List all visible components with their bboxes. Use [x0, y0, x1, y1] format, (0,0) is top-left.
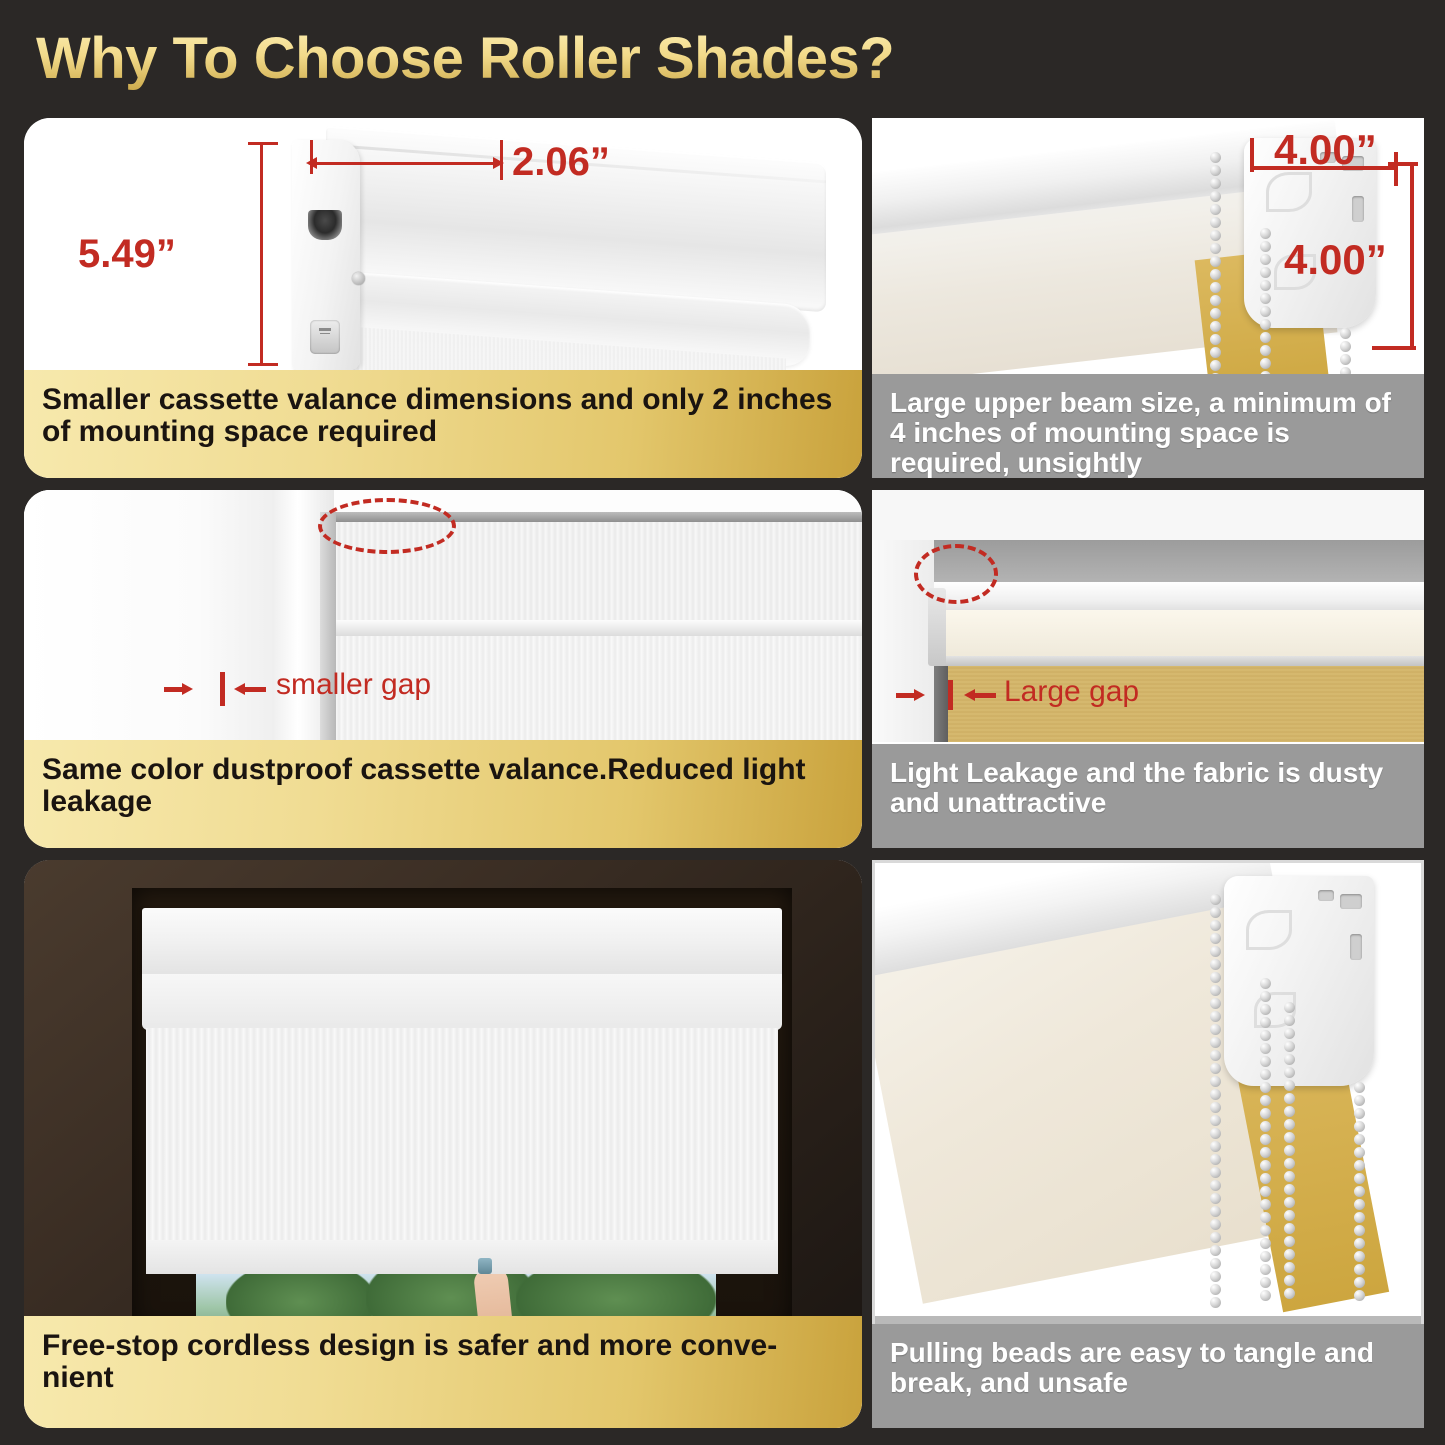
leak-top-wall [872, 490, 1424, 540]
panel-bad-3: Pulling beads are easy to tangle and bre… [872, 860, 1424, 1428]
bead-bracket-glyph-upper [1246, 910, 1292, 950]
light-leak-closeup: Large gap [872, 490, 1424, 742]
valance-slot [308, 210, 342, 240]
caption-good-1: Smaller cassette valance dimensions and … [24, 370, 862, 478]
gap-arrow-right-stem-bad [974, 693, 996, 698]
bead-mounting-bracket [1224, 876, 1374, 1086]
bracket-glyph-upper [1266, 172, 1312, 212]
cassette-valance-illustration: 2.06” 5.49” [274, 136, 834, 386]
dim-height-tick-bottom-bad [1372, 346, 1416, 350]
bead-chain-3 [1284, 1002, 1295, 1318]
caption-bad-3: Pulling beads are easy to tangle and bre… [872, 1324, 1424, 1428]
cassette-valance-front [142, 974, 782, 1030]
shade-mid-rail [324, 620, 862, 636]
bead-chain-back [1260, 228, 1271, 378]
shade-hem-bar [146, 1240, 778, 1274]
bead-chain-1 [1210, 894, 1221, 1314]
panel-bad-1: 4.00” 4.00” Large upper beam size, a min… [872, 118, 1424, 478]
caption-good-2: Same color dustproof cassette valance.Re… [24, 740, 862, 848]
dim-width-label-bad: 4.00” [1274, 126, 1377, 174]
dim-width-line [312, 162, 502, 165]
infographic-page: Why To Choose Roller Shades? [0, 0, 1445, 1445]
leak-valance [930, 610, 1424, 658]
window-wall [24, 490, 274, 748]
panel-bad-2: Large gap Light Leakage and the fabric i… [872, 490, 1424, 848]
dim-height-tick-top [248, 142, 278, 145]
valance-screw-upper [352, 272, 365, 285]
bead-chain-2 [1260, 978, 1271, 1318]
roller-shade-illustration: 4.00” 4.00” [872, 118, 1424, 374]
comparison-grid: 2.06” 5.49” Smaller cassette valance dim… [0, 108, 1445, 1438]
window-jamb-edge [320, 512, 336, 748]
gap-label-good: smaller gap [276, 668, 431, 702]
bead-chain-front [1210, 152, 1221, 378]
highlight-ellipse-bad [914, 544, 998, 604]
dim-width-tick-left-bad [1250, 138, 1254, 172]
bead-chain-loop [1340, 328, 1351, 378]
bead-shade-illustration [872, 860, 1424, 1330]
gap-arrow-left-stem-bad [896, 693, 918, 698]
bead-bracket-notch-3 [1318, 890, 1334, 901]
panel-good-1: 2.06” 5.49” Smaller cassette valance dim… [24, 118, 862, 478]
gap-arrow-right-stem-good [244, 687, 266, 692]
dim-height-line-bad [1410, 162, 1414, 348]
dim-width-tick-right [500, 140, 503, 180]
dim-width-tick-left [310, 140, 313, 174]
bead-bracket-notch-1 [1340, 894, 1362, 909]
dim-width-label: 2.06” [512, 140, 610, 185]
caption-bad-2: Light Leakage and the fabric is dusty an… [872, 744, 1424, 848]
window-closeup: smaller gap [24, 490, 862, 748]
gap-bar-bad [948, 680, 953, 710]
caption-bad-1: Large upper beam size, a minimum of 4 in… [872, 374, 1424, 478]
dim-height-tick-bottom [248, 363, 278, 366]
leak-gap-shadow [934, 666, 948, 742]
dim-height-line [260, 142, 263, 366]
bracket-notch-2 [1352, 196, 1364, 222]
dim-width-tick-right-bad [1394, 152, 1398, 186]
cassette-valance-top [142, 908, 782, 978]
leak-valance-edge [930, 656, 1424, 666]
dim-height-label-bad: 4.00” [1284, 236, 1387, 284]
gap-bar-good [220, 672, 225, 706]
page-title: Why To Choose Roller Shades? [36, 24, 1336, 94]
gap-label-bad: Large gap [1004, 675, 1139, 709]
dim-height-label: 5.49” [78, 232, 176, 277]
leak-gray-shadow [932, 540, 1424, 586]
valance-screw-lower [310, 320, 340, 354]
highlight-ellipse-good [318, 498, 456, 554]
shade-pull-tab [478, 1258, 492, 1274]
panel-good-3: Free-stop cordless design is safer and m… [24, 860, 862, 1428]
dim-height-tick-top-bad [1388, 162, 1418, 166]
bead-chain-4 [1354, 1082, 1365, 1318]
room-window-scene [24, 860, 862, 1330]
bead-bracket-notch-2 [1350, 934, 1362, 960]
gap-arrow-left-stem-good [164, 687, 186, 692]
shade-fabric [146, 1028, 778, 1246]
panel-good-2: smaller gap Same color dustproof cassett… [24, 490, 862, 848]
caption-good-3: Free-stop cordless design is safer and m… [24, 1316, 862, 1428]
